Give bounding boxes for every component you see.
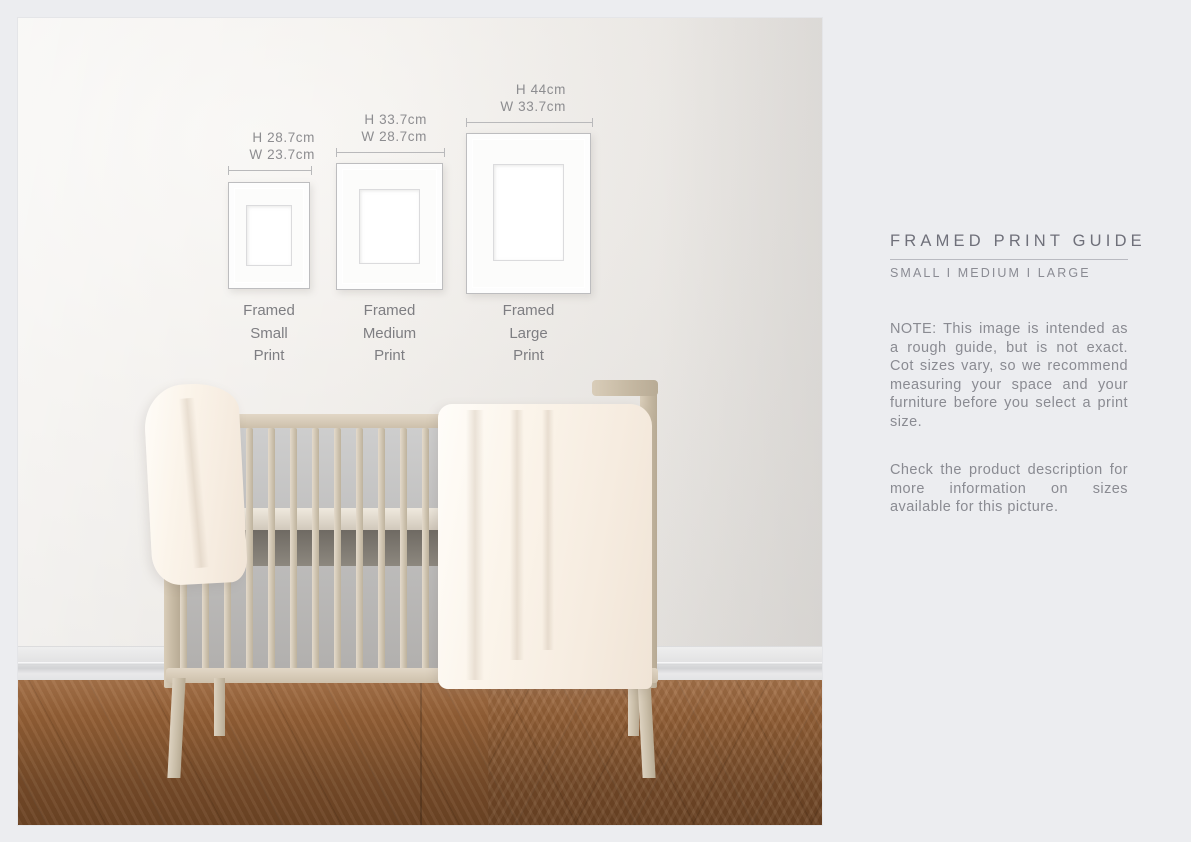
guide-note-paragraph-2: Check the product description for more i… (890, 461, 1128, 517)
cot-leg-inner-left (214, 678, 225, 736)
cot-post-right-cap (592, 380, 658, 396)
guide-subtitle: SMALL I MEDIUM I LARGE (890, 266, 1140, 280)
blanket-right-fold-3 (542, 410, 554, 650)
cot-leg-left (167, 678, 185, 778)
guide-note-paragraph-1: NOTE: This image is intended as a rough … (890, 320, 1128, 432)
guide-title-divider (890, 259, 1128, 260)
cot-leg-right (637, 678, 655, 778)
page-root: H 28.7cm W 23.7cm Framed Small Print H 3… (0, 0, 1191, 842)
print-guide-panel: FRAMED PRINT GUIDE SMALL I MEDIUM I LARG… (890, 0, 1152, 842)
nursery-photo: H 28.7cm W 23.7cm Framed Small Print H 3… (18, 18, 822, 825)
baby-cot (18, 18, 822, 825)
guide-title: FRAMED PRINT GUIDE (890, 232, 1138, 251)
blanket-right-fold-2 (510, 410, 524, 660)
blanket-right-fold-1 (466, 410, 484, 680)
